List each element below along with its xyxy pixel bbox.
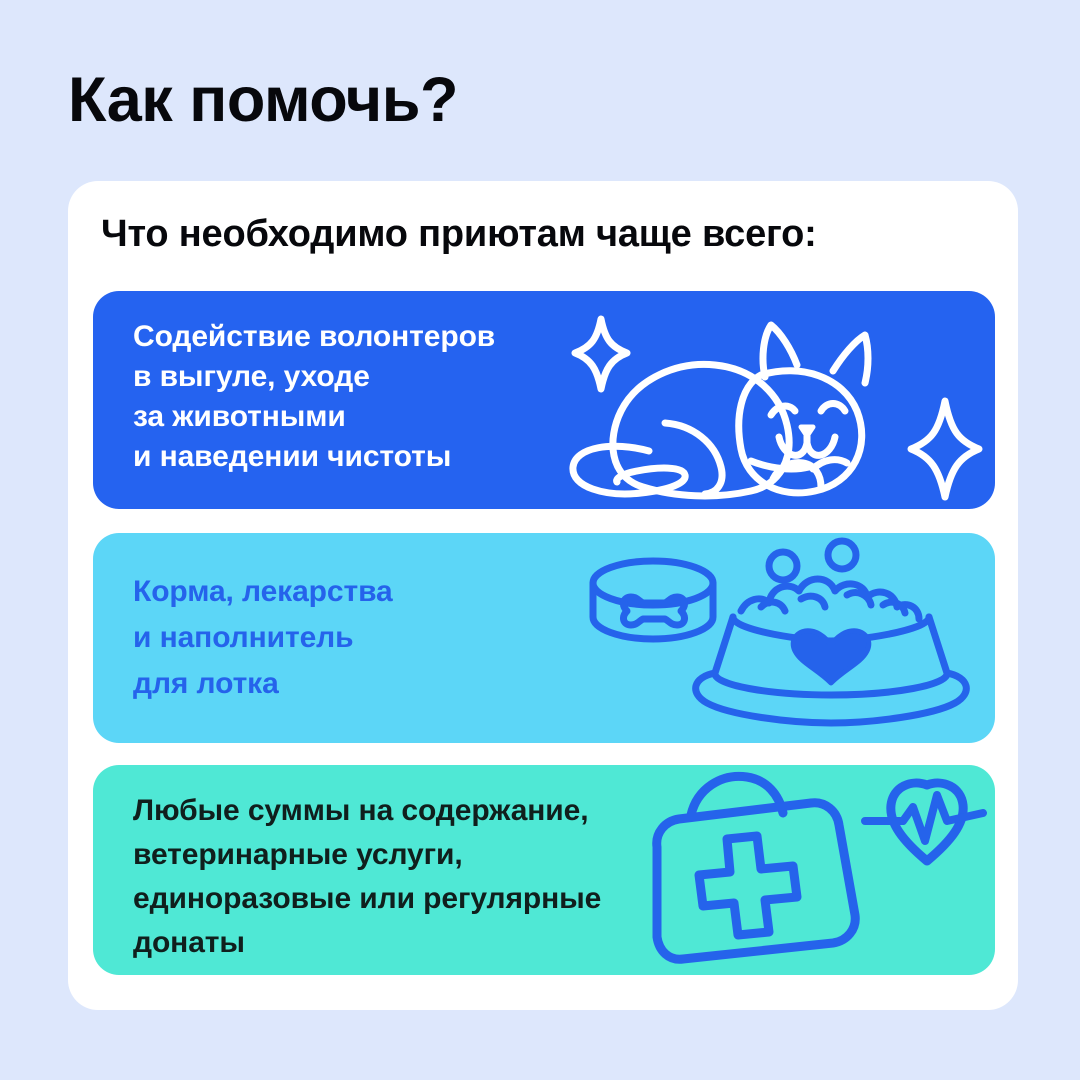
sleeping-cat-with-sparkles-icon — [565, 291, 995, 509]
content-panel: Что необходимо приютам чаще всего: Содей… — [68, 181, 1018, 1010]
food-can-and-pet-bowl-icon — [565, 533, 995, 743]
card-supplies-text: Корма, лекарства и наполнитель для лотка — [133, 569, 393, 707]
card-supplies: Корма, лекарства и наполнитель для лотка — [93, 533, 995, 743]
infographic-poster: Как помочь? Что необходимо приютам чаще … — [0, 0, 1080, 1080]
card-donations: Любые суммы на содержание, ветеринарные … — [93, 765, 995, 975]
page-title: Как помочь? — [68, 62, 458, 138]
card-donations-text: Любые суммы на содержание, ветеринарные … — [133, 789, 601, 965]
card-volunteers-text: Содействие волонтеров в выгуле, уходе за… — [133, 317, 495, 477]
panel-subtitle: Что необходимо приютам чаще всего: — [101, 211, 817, 257]
first-aid-kit-and-heartbeat-icon — [635, 765, 995, 975]
card-volunteers: Содействие волонтеров в выгуле, уходе за… — [93, 291, 995, 509]
